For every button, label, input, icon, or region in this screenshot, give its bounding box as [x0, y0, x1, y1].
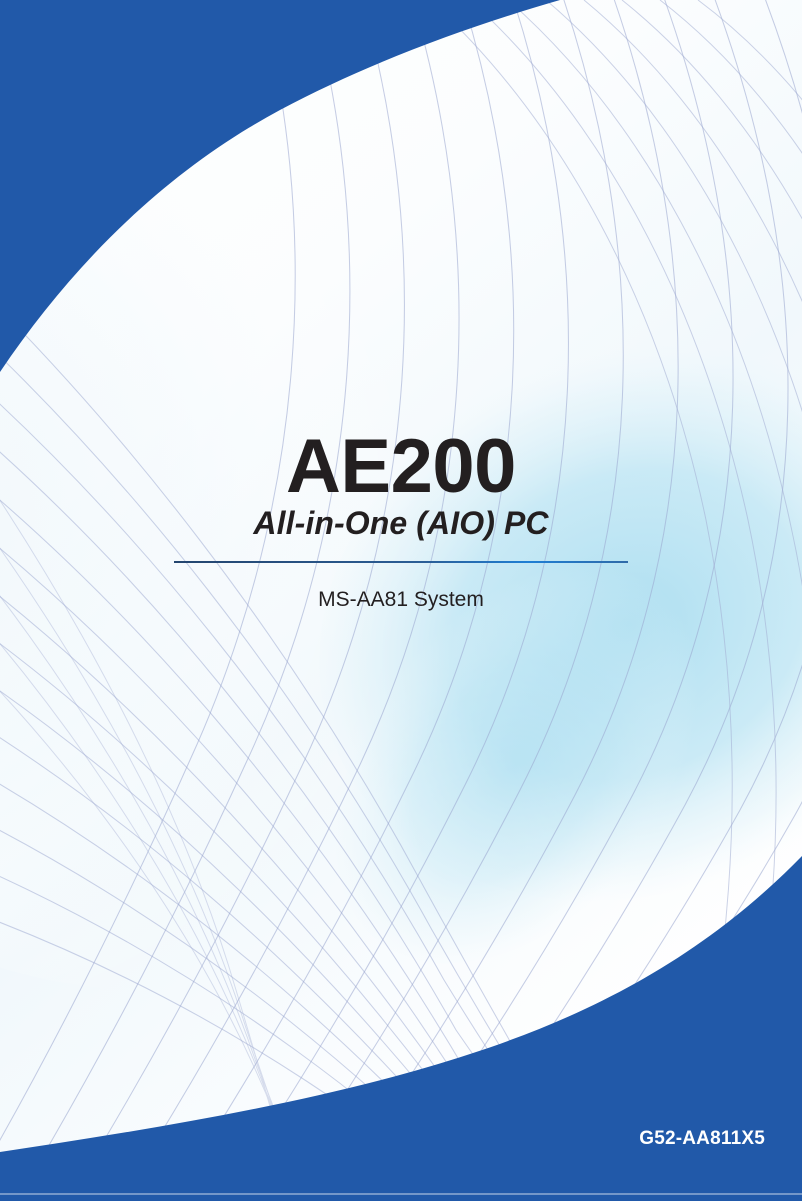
manual-cover-page: AE200 All-in-One (AIO) PC MS-AA81 System…	[0, 0, 802, 1201]
document-code: G52-AA811X5	[639, 1128, 765, 1150]
cover-background-artwork	[0, 0, 802, 1201]
